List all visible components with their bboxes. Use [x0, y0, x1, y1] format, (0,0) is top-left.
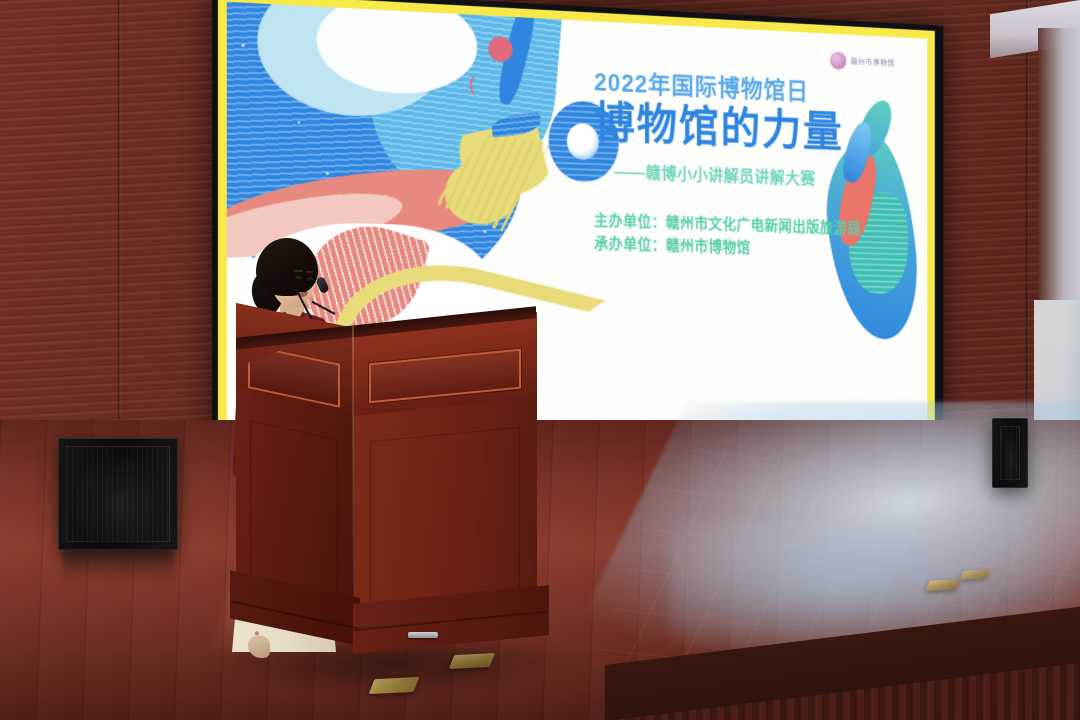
slide-text-block: 2022年国际博物馆日 博物馆的力量 ——赣博小小讲解员讲解大赛 主办单位：赣州… — [594, 70, 911, 265]
slide-organizer-block: 主办单位：赣州市文化广电新闻出版旅游局 承办单位：赣州市博物馆 — [594, 210, 911, 265]
speaker-brow — [294, 270, 303, 272]
speaker-eye — [307, 277, 313, 280]
pink-arc — [470, 72, 494, 99]
loudspeaker-left — [58, 438, 178, 550]
speaker-hair — [256, 238, 318, 296]
lectern-panel-right — [370, 427, 520, 603]
speaker-grille — [1000, 426, 1020, 480]
lectern — [236, 322, 536, 662]
event-photo-scene: 赣州市博物馆 2022年国际博物馆日 博物馆的力量 ——赣博小小讲解员讲解大赛 … — [0, 0, 1080, 720]
lectern-panel-left — [250, 421, 338, 598]
floor-socket-plate — [960, 569, 990, 579]
museum-logo-text: 赣州市博物馆 — [851, 56, 895, 68]
speaker-grille — [66, 446, 170, 542]
floor-socket-plate — [926, 579, 961, 591]
lectern-nameplate — [408, 632, 438, 638]
slide-subtitle-line: ——赣博小小讲解员讲解大赛 — [594, 162, 911, 193]
speaker-reflection — [62, 548, 174, 582]
speaker-eye — [295, 276, 302, 279]
museum-logo-mark — [830, 51, 846, 70]
museum-logo: 赣州市博物馆 — [830, 51, 895, 72]
pink-dot — [488, 36, 512, 62]
speaker-brow — [306, 271, 313, 273]
loudspeaker-right — [992, 418, 1028, 488]
